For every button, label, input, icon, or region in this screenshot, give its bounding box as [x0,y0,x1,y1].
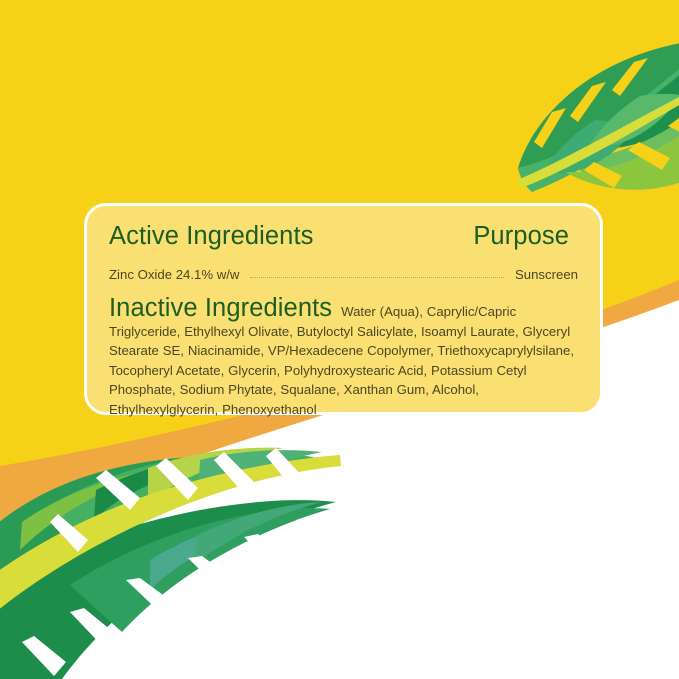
label-image: Active Ingredients Purpose Zinc Oxide 24… [0,0,679,679]
card-header-row: Active Ingredients Purpose [109,222,578,256]
inactive-ingredients-heading: Inactive Ingredients [109,294,332,322]
active-ingredient-purpose: Sunscreen [515,267,578,282]
active-ingredient-name: Zinc Oxide 24.1% w/w [109,267,239,282]
purpose-heading: Purpose [473,222,569,251]
inactive-ingredients-block: Inactive IngredientsWater (Aqua), Capryl… [109,299,578,419]
active-ingredients-heading: Active Ingredients [109,222,314,251]
active-ingredient-row: Zinc Oxide 24.1% w/w Sunscreen [109,267,578,282]
ingredients-card: Active Ingredients Purpose Zinc Oxide 24… [84,203,603,415]
dot-leader [250,276,503,278]
